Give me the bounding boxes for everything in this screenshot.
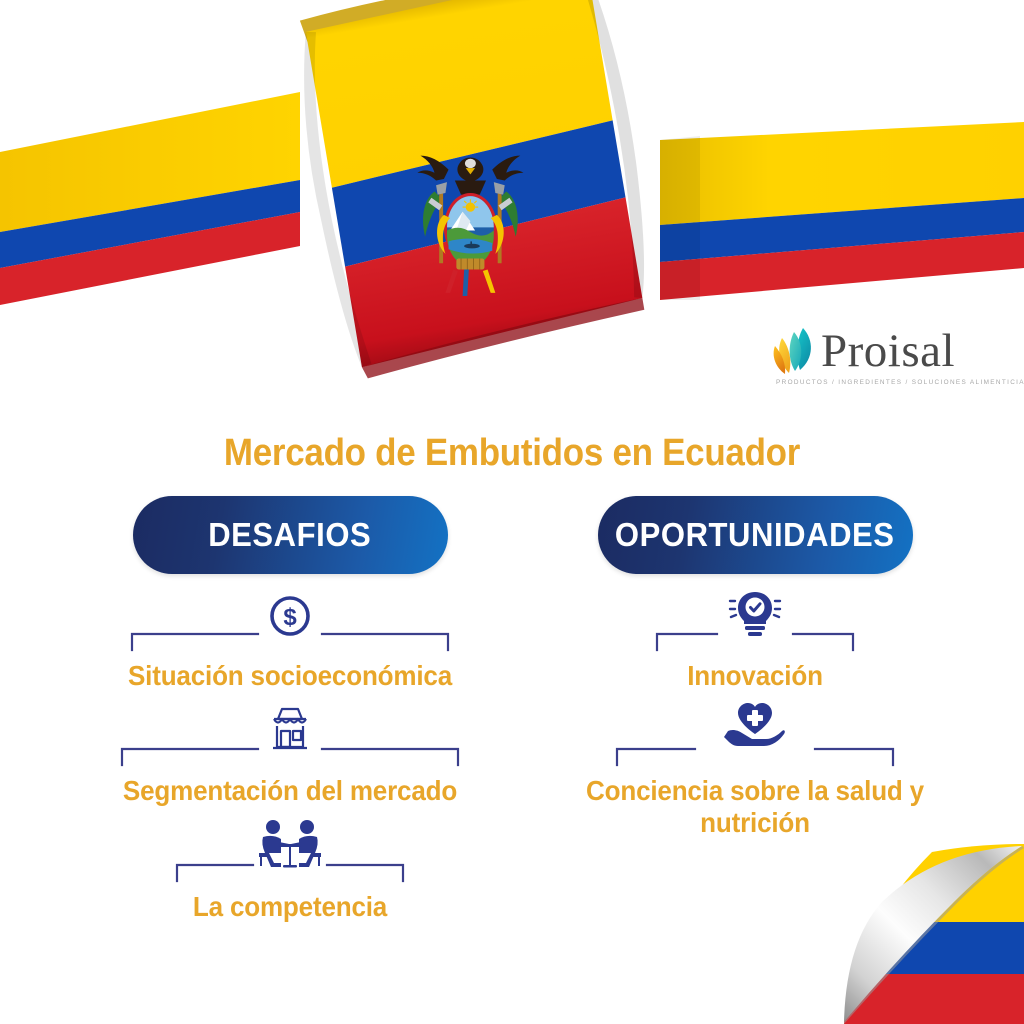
feature-graphic [95, 831, 485, 883]
feature-label: Innovación [574, 660, 937, 691]
column-heading-desafios[interactable]: DESAFIOS [133, 496, 448, 574]
feature-label: La competencia [109, 891, 472, 922]
proisal-logo[interactable]: Proisal PRODUCTOS / INGREDIENTES / SOLUC… [770, 322, 995, 398]
svg-text:$: $ [283, 604, 297, 631]
feature-graphic [560, 715, 950, 767]
feature-label: Situación socioeconómica [109, 660, 472, 691]
feature-item[interactable]: Conciencia sobre la salud y nutrición [560, 715, 950, 838]
feature-item[interactable]: $ Situación socioeconómica [95, 600, 485, 691]
feature-graphic: $ [95, 600, 485, 652]
storefront-icon [265, 705, 315, 753]
page-title: Mercado de Embutidos en Ecuador [41, 432, 983, 475]
feature-item[interactable]: La competencia [95, 831, 485, 922]
two-people-meeting-icon [252, 819, 328, 869]
dollar-circle-icon: $ [268, 594, 312, 638]
column-heading-oportunidades[interactable]: OPORTUNIDADES [598, 496, 913, 574]
feature-item[interactable]: Segmentación del mercado [95, 715, 485, 806]
feature-graphic [560, 600, 950, 652]
feature-label: Segmentación del mercado [109, 775, 472, 806]
ecuador-coat-of-arms [417, 156, 523, 296]
column-oportunidades: OPORTUNIDADES [560, 496, 950, 838]
feature-label: Conciencia sobre la salud y nutrición [574, 775, 937, 838]
column-heading-label: DESAFIOS [208, 516, 371, 554]
hand-heart-cross-icon [722, 701, 788, 753]
content-columns: DESAFIOS $ Situación socioeconómica [0, 496, 1024, 1016]
feature-graphic [95, 715, 485, 767]
logo-wordmark: Proisal [821, 328, 955, 375]
feature-item[interactable]: Innovación [560, 600, 950, 691]
lightbulb-check-icon [727, 588, 783, 638]
column-heading-label: OPORTUNIDADES [615, 516, 895, 554]
infographic-canvas: Proisal PRODUCTOS / INGREDIENTES / SOLUC… [0, 0, 1024, 1024]
proisal-leaf-logo-icon [770, 324, 818, 378]
column-desafios: DESAFIOS $ Situación socioeconómica [95, 496, 485, 922]
logo-tagline: PRODUCTOS / INGREDIENTES / SOLUCIONES AL… [776, 379, 1024, 386]
